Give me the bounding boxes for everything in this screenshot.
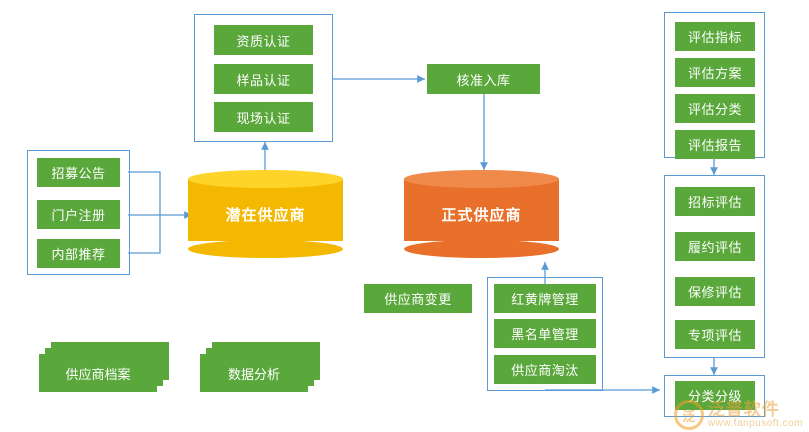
evaluation-type-item-2-label: 保修评估: [688, 282, 742, 301]
evaluation-type-item-1-label: 履约评估: [688, 237, 742, 256]
evaluation-index-item-1-label: 评估方案: [688, 63, 742, 82]
management-group: [487, 277, 603, 391]
evaluation-type-item-2[interactable]: 保修评估: [675, 277, 755, 306]
evaluation-type-item-1[interactable]: 履约评估: [675, 232, 755, 261]
supplier-archive-stack[interactable]: 供应商档案: [39, 342, 169, 396]
data-analysis-card[interactable]: 数据分析: [200, 354, 308, 392]
source-item-0-label: 招募公告: [51, 163, 105, 182]
evaluation-index-item-0-label: 评估指标: [688, 27, 742, 46]
evaluation-index-item-3-label: 评估报告: [688, 135, 742, 154]
evaluation-index-item-3[interactable]: 评估报告: [675, 130, 755, 159]
formal-supplier-label: 正式供应商: [441, 204, 521, 225]
watermark: 泛 泛普软件 www.fanpusoft.com: [674, 400, 803, 430]
source-item-1[interactable]: 门户注册: [37, 200, 120, 229]
supplier-archive-card[interactable]: 供应商档案: [39, 354, 157, 392]
approval-node-label: 核准入库: [456, 70, 510, 89]
data-analysis-stack[interactable]: 数据分析: [200, 342, 322, 396]
cylinder-bottom: [404, 240, 559, 258]
certification-item-1-label: 样品认证: [236, 70, 290, 89]
data-analysis-label: 数据分析: [228, 364, 280, 383]
supplier-change-node[interactable]: 供应商变更: [364, 284, 472, 313]
certification-item-0-label: 资质认证: [236, 31, 290, 50]
source-item-2[interactable]: 内部推荐: [37, 239, 120, 268]
cylinder-bottom: [188, 240, 343, 258]
cylinder-top: [404, 170, 559, 188]
source-item-2-label: 内部推荐: [51, 244, 105, 263]
evaluation-index-item-0[interactable]: 评估指标: [675, 22, 755, 51]
evaluation-index-item-2[interactable]: 评估分类: [675, 94, 755, 123]
diagram-canvas: 资质认证 样品认证 现场认证 核准入库 招募公告 门户注册 内部推荐 潜在供应商…: [0, 0, 809, 432]
watermark-cn: 泛普软件: [708, 401, 803, 419]
evaluation-index-item-2-label: 评估分类: [688, 99, 742, 118]
source-item-1-label: 门户注册: [51, 205, 105, 224]
watermark-mark: 泛: [682, 406, 695, 425]
source-item-0[interactable]: 招募公告: [37, 158, 120, 187]
watermark-en: www.fanpusoft.com: [708, 419, 803, 430]
supplier-change-label: 供应商变更: [384, 289, 452, 308]
cylinder-top: [188, 170, 343, 188]
certification-item-1[interactable]: 样品认证: [214, 64, 313, 94]
approval-node[interactable]: 核准入库: [427, 64, 540, 94]
watermark-text: 泛普软件 www.fanpusoft.com: [708, 401, 803, 429]
certification-item-2[interactable]: 现场认证: [214, 102, 313, 132]
watermark-logo-icon: 泛: [674, 400, 704, 430]
potential-supplier-label: 潜在供应商: [225, 204, 305, 225]
evaluation-index-item-1[interactable]: 评估方案: [675, 58, 755, 87]
evaluation-type-item-3[interactable]: 专项评估: [675, 320, 755, 349]
formal-supplier-cylinder[interactable]: 正式供应商: [404, 170, 559, 258]
potential-supplier-cylinder[interactable]: 潜在供应商: [188, 170, 343, 258]
supplier-archive-label: 供应商档案: [65, 364, 130, 383]
certification-item-0[interactable]: 资质认证: [214, 25, 313, 55]
evaluation-type-item-3-label: 专项评估: [688, 325, 742, 344]
evaluation-type-item-0[interactable]: 招标评估: [675, 187, 755, 216]
evaluation-type-item-0-label: 招标评估: [688, 192, 742, 211]
certification-item-2-label: 现场认证: [236, 108, 290, 127]
